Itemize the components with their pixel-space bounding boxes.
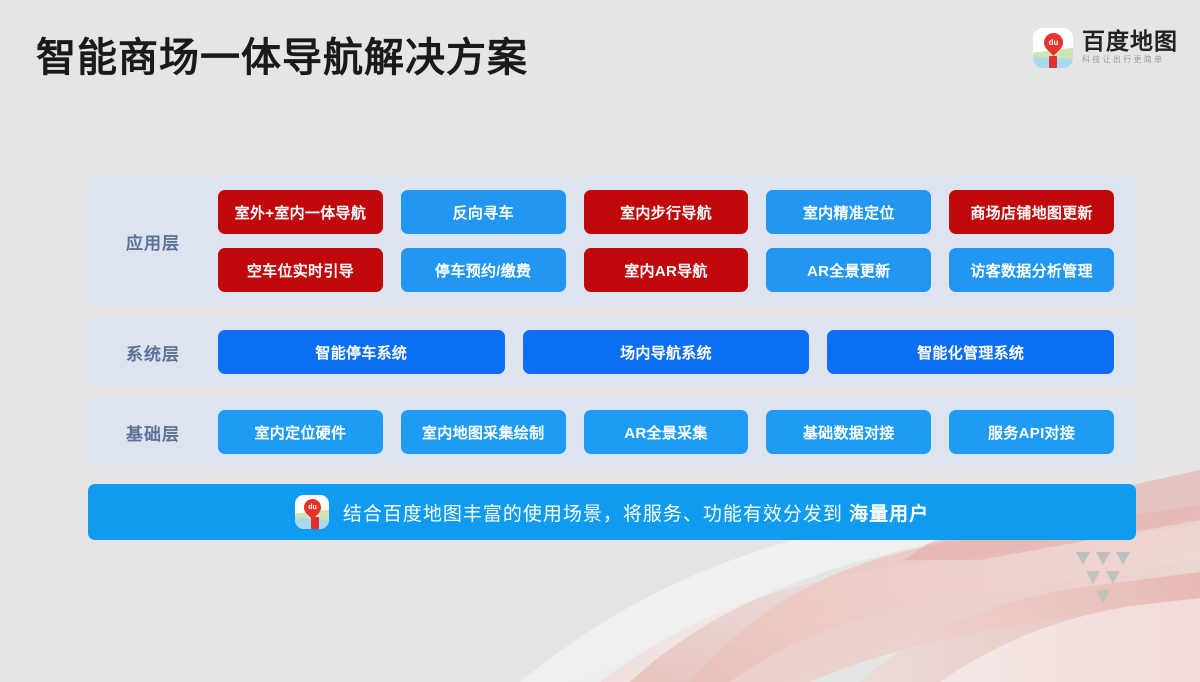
layer-band-foundation: 基础层 室内定位硬件 室内地图采集绘制 AR全景采集 基础数据对接 服务API对…	[88, 398, 1136, 466]
card-visitor-data-analysis[interactable]: 访客数据分析管理	[949, 248, 1114, 292]
card-empty-parking-guidance[interactable]: 空车位实时引导	[218, 248, 383, 292]
banner-pin-label: du	[304, 499, 321, 516]
card-venue-navigation-system[interactable]: 场内导航系统	[523, 330, 810, 374]
card-mall-store-map-update[interactable]: 商场店铺地图更新	[949, 190, 1114, 234]
value-proposition-banner: du 结合百度地图丰富的使用场景，将服务、功能有效分发到 海量用户	[88, 484, 1136, 540]
layer-row: 空车位实时引导 停车预约/缴费 室内AR导航 AR全景更新 访客数据分析管理	[218, 248, 1114, 292]
card-indoor-ar-navigation[interactable]: 室内AR导航	[584, 248, 749, 292]
card-indoor-map-collection[interactable]: 室内地图采集绘制	[401, 410, 566, 454]
page-title: 智能商场一体导航解决方案	[36, 25, 528, 83]
architecture-stack: 应用层 室外+室内一体导航 反向寻车 室内步行导航 室内精准定位 商场店铺地图更…	[88, 176, 1136, 478]
card-outdoor-indoor-navigation[interactable]: 室外+室内一体导航	[218, 190, 383, 234]
card-indoor-walking-navigation[interactable]: 室内步行导航	[584, 190, 749, 234]
card-basic-data-integration[interactable]: 基础数据对接	[766, 410, 931, 454]
card-parking-reservation-payment[interactable]: 停车预约/缴费	[401, 248, 566, 292]
layer-row: 室内定位硬件 室内地图采集绘制 AR全景采集 基础数据对接 服务API对接	[218, 410, 1114, 454]
layer-band-system: 系统层 智能停车系统 场内导航系统 智能化管理系统	[88, 318, 1136, 386]
layer-rows-foundation: 室内定位硬件 室内地图采集绘制 AR全景采集 基础数据对接 服务API对接	[218, 410, 1136, 454]
card-intelligent-management-system[interactable]: 智能化管理系统	[827, 330, 1114, 374]
baidu-map-logo: du 百度地图 科技让出行更简单	[1033, 28, 1178, 68]
layer-rows-system: 智能停车系统 场内导航系统 智能化管理系统	[218, 330, 1136, 374]
banner-text-plain: 结合百度地图丰富的使用场景，将服务、功能有效分发到	[343, 504, 849, 525]
pin-label: du	[1044, 33, 1063, 52]
layer-row: 智能停车系统 场内导航系统 智能化管理系统	[218, 330, 1114, 374]
card-smart-parking-system[interactable]: 智能停车系统	[218, 330, 505, 374]
banner-text-highlight: 海量用户	[849, 504, 929, 525]
layer-label-application: 应用层	[88, 229, 218, 254]
card-reverse-car-finding[interactable]: 反向寻车	[401, 190, 566, 234]
layer-row: 室外+室内一体导航 反向寻车 室内步行导航 室内精准定位 商场店铺地图更新	[218, 190, 1114, 234]
card-ar-panorama-update[interactable]: AR全景更新	[766, 248, 931, 292]
baidu-map-pin-icon: du	[1033, 28, 1073, 68]
card-indoor-positioning-hardware[interactable]: 室内定位硬件	[218, 410, 383, 454]
card-indoor-precise-positioning[interactable]: 室内精准定位	[766, 190, 931, 234]
brand-tagline: 科技让出行更简单	[1082, 54, 1178, 67]
card-service-api-integration[interactable]: 服务API对接	[949, 410, 1114, 454]
layer-rows-application: 室外+室内一体导航 反向寻车 室内步行导航 室内精准定位 商场店铺地图更新 空车…	[218, 190, 1136, 292]
triangle-dot-pattern	[1076, 552, 1150, 637]
layer-label-system: 系统层	[88, 340, 218, 365]
banner-baidu-map-pin-icon: du	[295, 495, 329, 529]
card-ar-panorama-collection[interactable]: AR全景采集	[584, 410, 749, 454]
layer-label-foundation: 基础层	[88, 420, 218, 445]
layer-band-application: 应用层 室外+室内一体导航 反向寻车 室内步行导航 室内精准定位 商场店铺地图更…	[88, 176, 1136, 306]
brand-name: 百度地图	[1082, 29, 1178, 53]
banner-text: 结合百度地图丰富的使用场景，将服务、功能有效分发到 海量用户	[343, 499, 929, 526]
slide-header: 智能商场一体导航解决方案 du 百度地图 科技让出行更简单	[0, 0, 1200, 110]
